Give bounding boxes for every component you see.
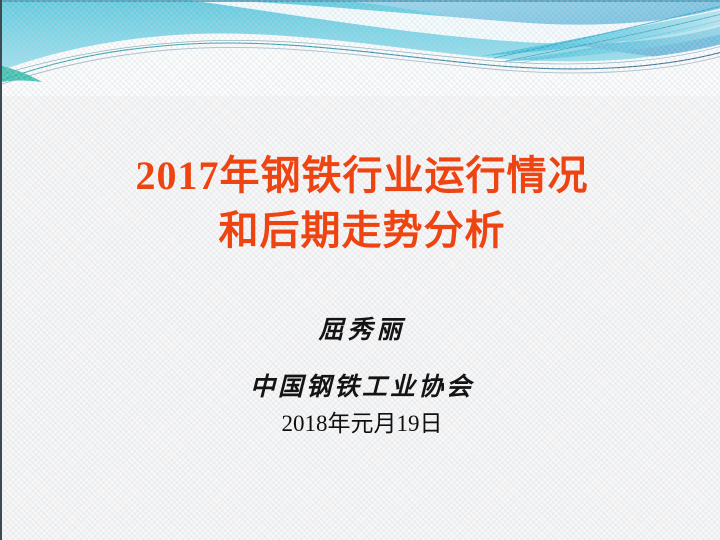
- author-name: 屈秀丽: [2, 310, 720, 346]
- presentation-date: 2018年元月19日: [2, 404, 720, 438]
- slide-title-line-1: 2017年钢铁行业运行情况: [2, 143, 720, 201]
- presentation-slide: 2017年钢铁行业运行情况 和后期走势分析 屈秀丽 中国钢铁工业协会 2018年…: [0, 0, 720, 540]
- organization-name: 中国钢铁工业协会: [2, 367, 720, 403]
- slide-content: 2017年钢铁行业运行情况 和后期走势分析 屈秀丽 中国钢铁工业协会 2018年…: [2, 0, 720, 540]
- slide-title-line-2: 和后期走势分析: [2, 198, 720, 256]
